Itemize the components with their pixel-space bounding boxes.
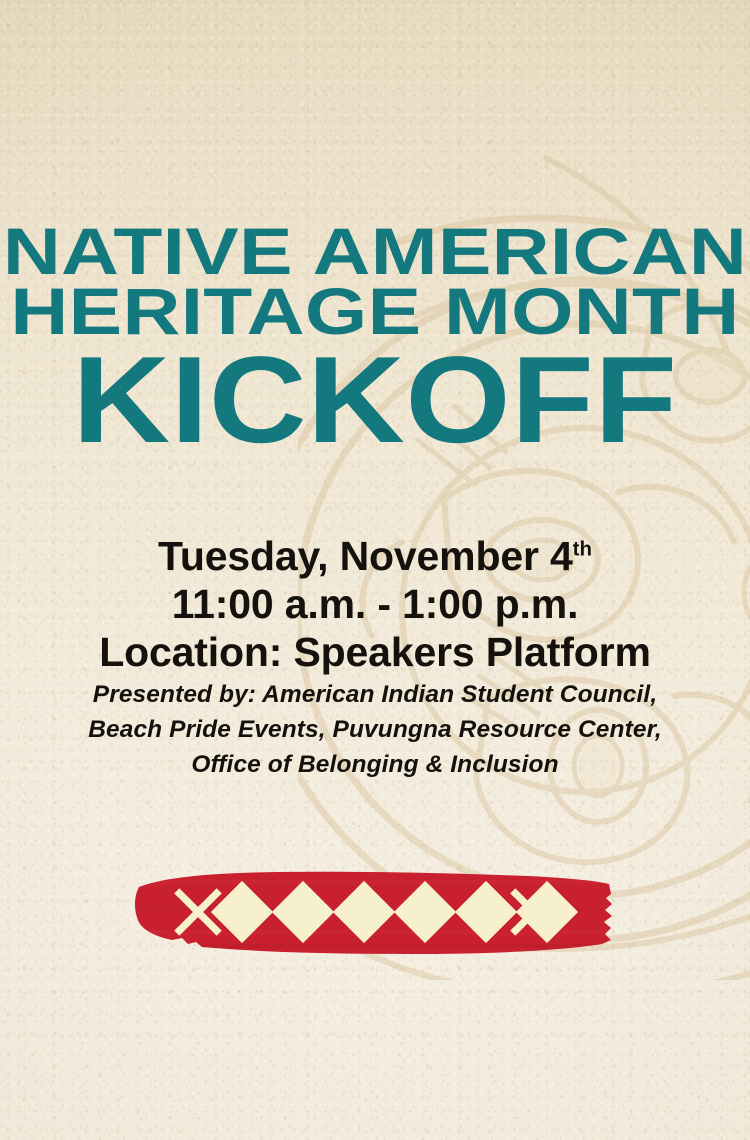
poster-headings: NATIVE AMERICAN HERITAGE MONTH KICKOFF — [0, 222, 750, 457]
heading-line-kickoff: KICKOFF — [0, 344, 750, 457]
event-details: Tuesday, November 4th 11:00 a.m. - 1:00 … — [0, 534, 750, 675]
presenters-line-1: Presented by: American Indian Student Co… — [0, 678, 750, 713]
heading-line-native-american: NATIVE AMERICAN — [0, 222, 750, 280]
event-date: Tuesday, November 4th — [0, 534, 750, 579]
event-time: 11:00 a.m. - 1:00 p.m. — [0, 582, 750, 627]
presenters-line-3: Office of Belonging & Inclusion — [0, 748, 750, 783]
brushstroke-banner — [128, 864, 616, 964]
poster-canvas: NATIVE AMERICAN HERITAGE MONTH KICKOFF T… — [0, 0, 750, 1140]
presenters-line-2: Beach Pride Events, Puvungna Resource Ce… — [0, 713, 750, 748]
presenters-block: Presented by: American Indian Student Co… — [0, 678, 750, 782]
event-location: Location: Speakers Platform — [0, 630, 750, 675]
event-date-ordinal: th — [573, 537, 592, 560]
event-date-text: Tuesday, November 4 — [158, 533, 573, 579]
